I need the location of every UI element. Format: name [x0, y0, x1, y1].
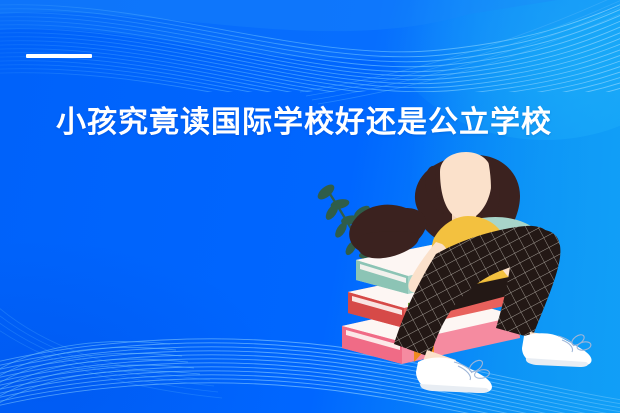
- sneaker-front: [416, 358, 492, 394]
- background-bottom-shade: [0, 243, 280, 413]
- illustration-woman-on-books: [310, 150, 620, 413]
- sneaker-back: [522, 333, 592, 367]
- accent-rule: [26, 54, 92, 58]
- promo-banner: 小孩究竟读国际学校好还是公立学校: [0, 0, 620, 413]
- page-title: 小孩究竟读国际学校好还是公立学校: [56, 103, 596, 143]
